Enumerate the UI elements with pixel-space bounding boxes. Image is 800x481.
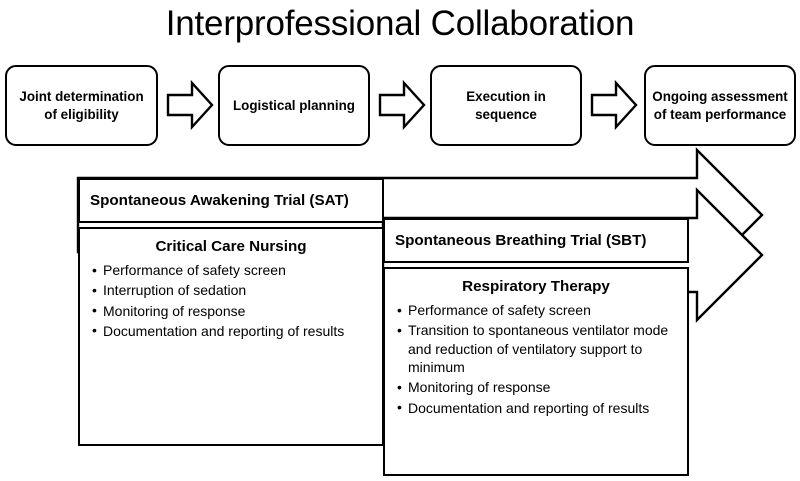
page-title: Interprofessional Collaboration bbox=[0, 0, 800, 52]
sat-header-label: Spontaneous Awakening Trial (SAT) bbox=[90, 192, 349, 209]
list-item: Interruption of sedation bbox=[92, 281, 374, 299]
list-item: Performance of safety screen bbox=[397, 301, 679, 319]
right-block-arrow-icon bbox=[166, 79, 214, 131]
list-item: Monitoring of response bbox=[92, 302, 374, 320]
sat-bullet-list: Performance of safety screen Interruptio… bbox=[80, 261, 382, 340]
sat-discipline-title: Critical Care Nursing bbox=[80, 238, 382, 255]
sat-discipline-panel[interactable]: Critical Care Nursing Performance of saf… bbox=[78, 227, 384, 446]
process-step-3-label: Execution in sequence bbox=[438, 88, 574, 122]
process-step-3[interactable]: Execution in sequence bbox=[430, 65, 582, 146]
list-item: Performance of safety screen bbox=[92, 261, 374, 279]
process-step-2-label: Logistical planning bbox=[233, 97, 355, 114]
sbt-header[interactable]: Spontaneous Breathing Trial (SBT) bbox=[383, 218, 689, 263]
process-step-4[interactable]: Ongoing assessment of team performance bbox=[644, 65, 796, 146]
sbt-discipline-title: Respiratory Therapy bbox=[385, 278, 687, 295]
right-block-arrow-icon bbox=[378, 79, 426, 131]
process-step-2[interactable]: Logistical planning bbox=[218, 65, 370, 146]
process-step-1-label: Joint determination of eligibility bbox=[13, 88, 150, 122]
list-item: Transition to spontaneous ventilator mod… bbox=[397, 321, 679, 376]
list-item: Monitoring of response bbox=[397, 378, 679, 396]
list-item: Documentation and reporting of results bbox=[397, 399, 679, 417]
sat-header[interactable]: Spontaneous Awakening Trial (SAT) bbox=[78, 178, 384, 223]
process-step-4-label: Ongoing assessment of team performance bbox=[652, 88, 788, 122]
list-item: Documentation and reporting of results bbox=[92, 322, 374, 340]
right-block-arrow-icon bbox=[590, 79, 638, 131]
sbt-bullet-list: Performance of safety screen Transition … bbox=[385, 301, 687, 417]
diagram-canvas: Interprofessional Collaboration Joint de… bbox=[0, 0, 800, 481]
process-step-1[interactable]: Joint determination of eligibility bbox=[5, 65, 158, 146]
sbt-header-label: Spontaneous Breathing Trial (SBT) bbox=[395, 232, 646, 249]
sbt-discipline-panel[interactable]: Respiratory Therapy Performance of safet… bbox=[383, 267, 689, 476]
